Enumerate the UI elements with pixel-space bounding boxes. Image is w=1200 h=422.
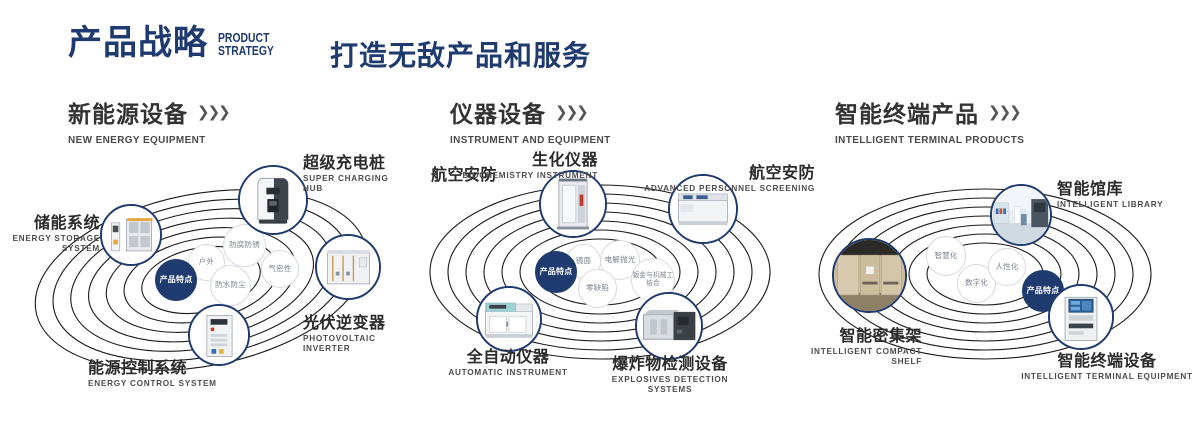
section-title-instrument: 仪器设备 ❯❯❯ INSTRUMENT AND EQUIPMENT	[450, 95, 619, 146]
page-title-en-line2: STRATEGY	[218, 44, 274, 57]
label-en: AUTOMATIC INSTRUMENT	[438, 368, 578, 378]
section-title-en: INTELLIGENT TERMINAL PRODUCTS	[835, 134, 1024, 146]
page-title: 产品战略 PRODUCT STRATEGY	[68, 26, 288, 60]
energy-storage-cabinet-icon	[102, 206, 160, 264]
label-biochemistry-instrument: 生化仪器 BIOCHEMISTRY INSTRUMENT	[438, 151, 598, 181]
cluster-intelligent-terminal: 智慧化 数字化 人性化 产品特点	[800, 152, 1200, 402]
node-automatic-instrument[interactable]	[476, 286, 542, 352]
product-feature-core-bubble: 产品特点	[535, 251, 577, 293]
label-en: ENERGY STORAGE SYSTEM	[0, 234, 100, 255]
node-intelligent-library[interactable]	[990, 184, 1052, 246]
node-explosives-detection[interactable]	[635, 292, 703, 360]
label-en: PHOTOVOLTAIC INVERTER	[303, 334, 405, 355]
section-title-cn: 智能终端产品	[835, 95, 979, 129]
node-energy-storage[interactable]	[100, 204, 162, 266]
section-title-en: NEW ENERGY EQUIPMENT	[68, 134, 221, 146]
inverter-cabinet-icon	[317, 236, 379, 298]
section-title-cn: 新能源设备	[68, 95, 188, 129]
label-en: INTELLIGENT COMPACT SHELF	[792, 347, 922, 368]
node-intelligent-terminal-equipment[interactable]	[1048, 284, 1114, 350]
cluster-instrument: 镜面 电解抛光 零缺陷 钣金与机械工结合 产品特点	[400, 152, 800, 402]
section-title-intelligent-terminal: 智能终端产品 ❯❯❯ INTELLIGENT TERMINAL PRODUCTS	[835, 95, 1034, 146]
automatic-analyzer-icon	[478, 288, 540, 350]
label-cn: 智能终端设备	[1018, 352, 1196, 370]
control-cabinet-icon	[190, 306, 248, 364]
section-title-cn: 仪器设备	[450, 95, 546, 129]
label-en: INTELLIGENT TERMINAL EQUIPMENT	[1018, 372, 1196, 382]
page-subtitle: 打造无敌产品和服务	[330, 34, 591, 74]
feature-bubble: 防水防尘	[210, 265, 251, 306]
label-intelligent-library: 智能馆库 INTELLIGENT LIBRARY	[1057, 180, 1163, 210]
terminal-kiosk-icon	[1050, 286, 1112, 348]
feature-bubble: 人性化	[988, 248, 1026, 286]
feature-bubble: 气密性	[261, 250, 299, 288]
chevron-right-icon: ❯❯❯	[988, 103, 1020, 121]
label-automatic-instrument: 全自动仪器 AUTOMATIC INSTRUMENT	[438, 348, 578, 378]
label-cn: 光伏逆变器	[303, 314, 405, 332]
page-title-cn: 产品战略	[68, 26, 208, 60]
detection-system-icon	[637, 294, 701, 358]
cluster-new-energy: 户外 防腐防锈 防水防尘 气密性 产品特点	[5, 152, 405, 402]
library-room-icon	[992, 186, 1050, 244]
label-cn: 智能馆库	[1057, 180, 1163, 198]
label-intelligent-compact-shelf: 智能密集架 INTELLIGENT COMPACT SHELF	[792, 327, 922, 367]
page-title-en: PRODUCT STRATEGY	[218, 31, 274, 57]
label-super-charging-hub: 超级充电桩 SUPER CHARGING HUB	[303, 154, 405, 194]
biochemistry-scanner-icon	[541, 172, 605, 236]
label-cn: 超级充电桩	[303, 154, 405, 172]
label-energy-control-system: 能源控制系统 ENERGY CONTROL SYSTEM	[88, 359, 217, 389]
label-explosives-detection: 爆炸物检测设备 EXPLOSIVES DETECTION SYSTEMS	[595, 355, 745, 395]
poster-canvas: 产品战略 PRODUCT STRATEGY 打造无敌产品和服务 新能源设备 ❯❯…	[0, 0, 1200, 422]
section-title-new-energy: 新能源设备 ❯❯❯ NEW ENERGY EQUIPMENT	[68, 95, 229, 146]
label-cn: 智能密集架	[792, 327, 922, 345]
label-cn: 航空安防	[615, 164, 815, 182]
node-intelligent-compact-shelf[interactable]	[832, 238, 907, 313]
label-cn: 生化仪器	[438, 151, 598, 169]
node-photovoltaic-inverter[interactable]	[315, 234, 381, 300]
chevron-right-icon: ❯❯❯	[197, 103, 229, 121]
label-en: INTELLIGENT LIBRARY	[1057, 200, 1163, 210]
label-cn: 储能系统	[0, 214, 100, 232]
label-photovoltaic-inverter: 光伏逆变器 PHOTOVOLTAIC INVERTER	[303, 314, 405, 354]
label-intelligent-terminal-equipment: 智能终端设备 INTELLIGENT TERMINAL EQUIPMENT	[1018, 352, 1196, 382]
label-en: ENERGY CONTROL SYSTEM	[88, 379, 217, 389]
label-cn: 爆炸物检测设备	[595, 355, 745, 373]
feature-bubble: 智慧化	[926, 236, 966, 276]
label-cn: 能源控制系统	[88, 359, 217, 377]
label-cn: 全自动仪器	[438, 348, 578, 366]
node-energy-control-system[interactable]	[188, 304, 250, 366]
compact-shelf-icon	[834, 240, 905, 311]
product-feature-core-bubble: 产品特点	[155, 259, 197, 301]
charging-pile-icon	[240, 167, 306, 233]
label-en: EXPLOSIVES DETECTION SYSTEMS	[595, 375, 745, 396]
label-energy-storage: 储能系统 ENERGY STORAGE SYSTEM	[0, 214, 100, 254]
label-en: BIOCHEMISTRY INSTRUMENT	[438, 171, 598, 181]
label-en: ADVANCED PERSONNEL SCREENING	[615, 184, 815, 194]
label-advanced-personnel-screening: 航空安防 ADVANCED PERSONNEL SCREENING	[615, 164, 815, 194]
section-title-en: INSTRUMENT AND EQUIPMENT	[450, 134, 611, 146]
node-super-charging-hub[interactable]	[238, 165, 308, 235]
feature-bubble: 零缺陷	[578, 269, 617, 308]
chevron-right-icon: ❯❯❯	[555, 103, 587, 121]
label-en: SUPER CHARGING HUB	[303, 174, 405, 195]
